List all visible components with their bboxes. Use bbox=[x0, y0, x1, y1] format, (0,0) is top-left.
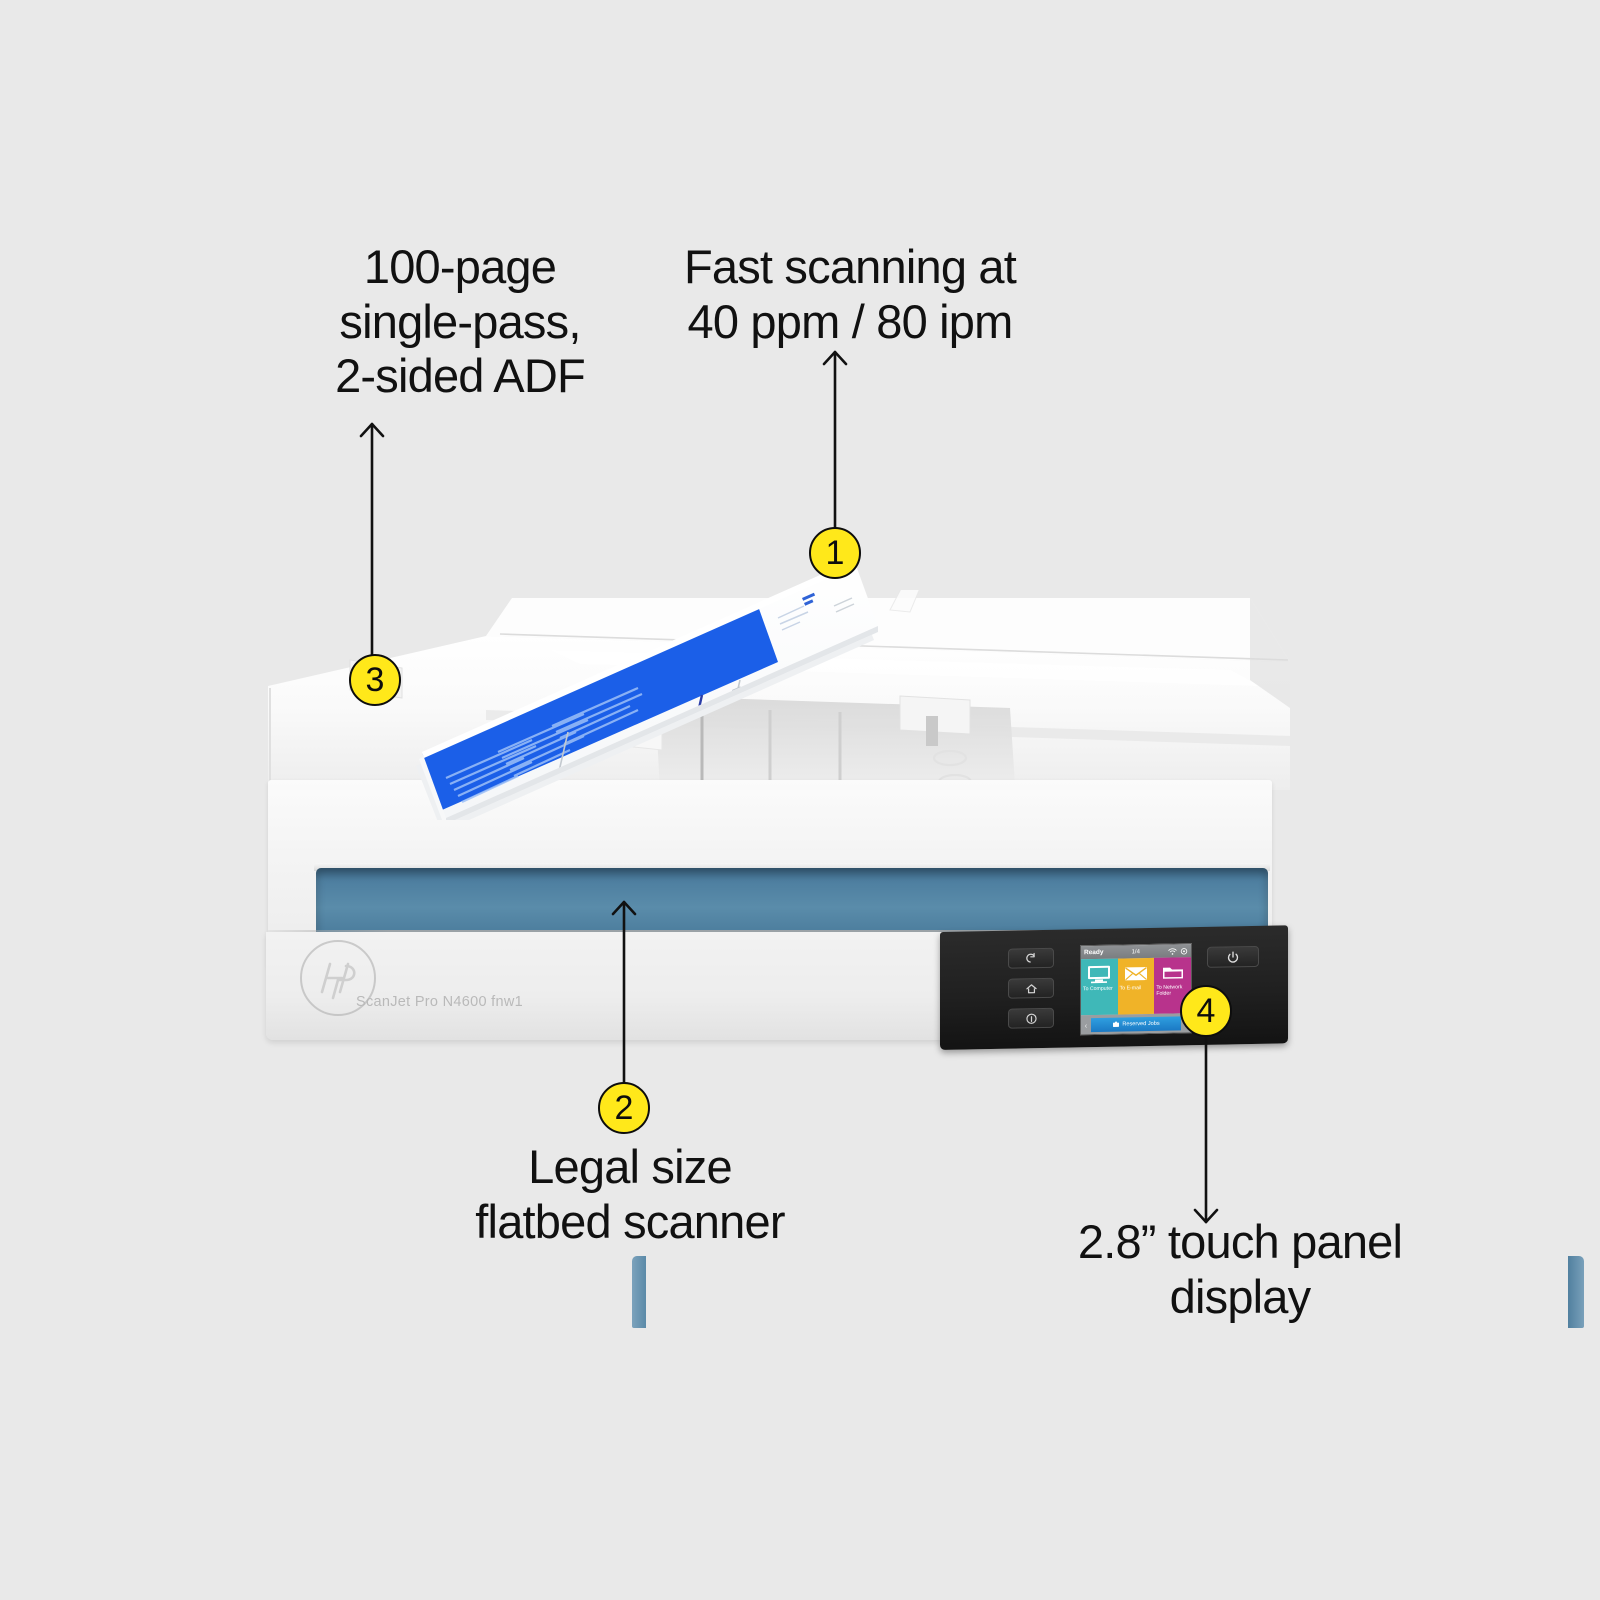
callout-text-speed: Fast scanning at 40 ppm / 80 ipm bbox=[640, 240, 1060, 349]
callout-badge-1[interactable]: 1 bbox=[809, 527, 861, 579]
callout-text-flatbed: Legal size flatbed scanner bbox=[430, 1140, 830, 1249]
tile-label: To E-mail bbox=[1118, 985, 1155, 993]
screen-bottom-bar: ‹ Reserved Jobs › bbox=[1081, 1013, 1191, 1035]
monitor-icon bbox=[1084, 962, 1114, 987]
product-model-label: ScanJet Pro N4600 fnw1 bbox=[356, 994, 523, 1010]
prev-arrow-icon[interactable]: ‹ bbox=[1081, 1021, 1091, 1030]
page-indicator: 1/4 bbox=[1104, 948, 1168, 955]
callout-text-adf: 100-page single-pass, 2-sided ADF bbox=[245, 240, 675, 404]
flatbed-right-cap bbox=[1568, 1256, 1584, 1328]
callout-badge-4[interactable]: 4 bbox=[1180, 985, 1232, 1037]
reserved-jobs-icon bbox=[1112, 1021, 1120, 1029]
wifi-icon bbox=[1168, 947, 1177, 955]
control-panel-touchscreen[interactable]: Ready 1/4 bbox=[1080, 943, 1192, 1035]
status-ready-text: Ready bbox=[1084, 949, 1104, 956]
callout-text-touch-panel: 2.8” touch panel display bbox=[1040, 1215, 1440, 1324]
back-button[interactable] bbox=[1008, 948, 1054, 969]
reserved-jobs-label: Reserved Jobs bbox=[1122, 1021, 1159, 1028]
envelope-icon bbox=[1121, 961, 1151, 986]
tile-to-computer[interactable]: To Computer bbox=[1081, 959, 1118, 1016]
folder-icon bbox=[1158, 960, 1188, 985]
settings-gear-icon bbox=[1180, 947, 1188, 955]
reserved-jobs-button[interactable]: Reserved Jobs bbox=[1091, 1016, 1181, 1032]
tile-label: To Computer bbox=[1081, 986, 1118, 994]
control-panel: Ready 1/4 bbox=[940, 925, 1288, 1050]
callout-badge-2[interactable]: 2 bbox=[598, 1082, 650, 1134]
home-button[interactable] bbox=[1008, 978, 1054, 999]
tile-to-email[interactable]: To E-mail bbox=[1118, 958, 1155, 1015]
info-button[interactable] bbox=[1008, 1008, 1054, 1029]
product-diagram-stage: ScanJet Pro N4600 fnw1 bbox=[0, 0, 1600, 1600]
scanner-illustration: ScanJet Pro N4600 fnw1 bbox=[0, 480, 1600, 1100]
callout-badge-3[interactable]: 3 bbox=[349, 654, 401, 706]
flatbed-left-cap bbox=[632, 1256, 646, 1328]
screen-tile-row: To Computer To E-mail bbox=[1081, 957, 1191, 1015]
status-icon-group bbox=[1168, 947, 1188, 955]
power-button[interactable] bbox=[1207, 946, 1259, 968]
